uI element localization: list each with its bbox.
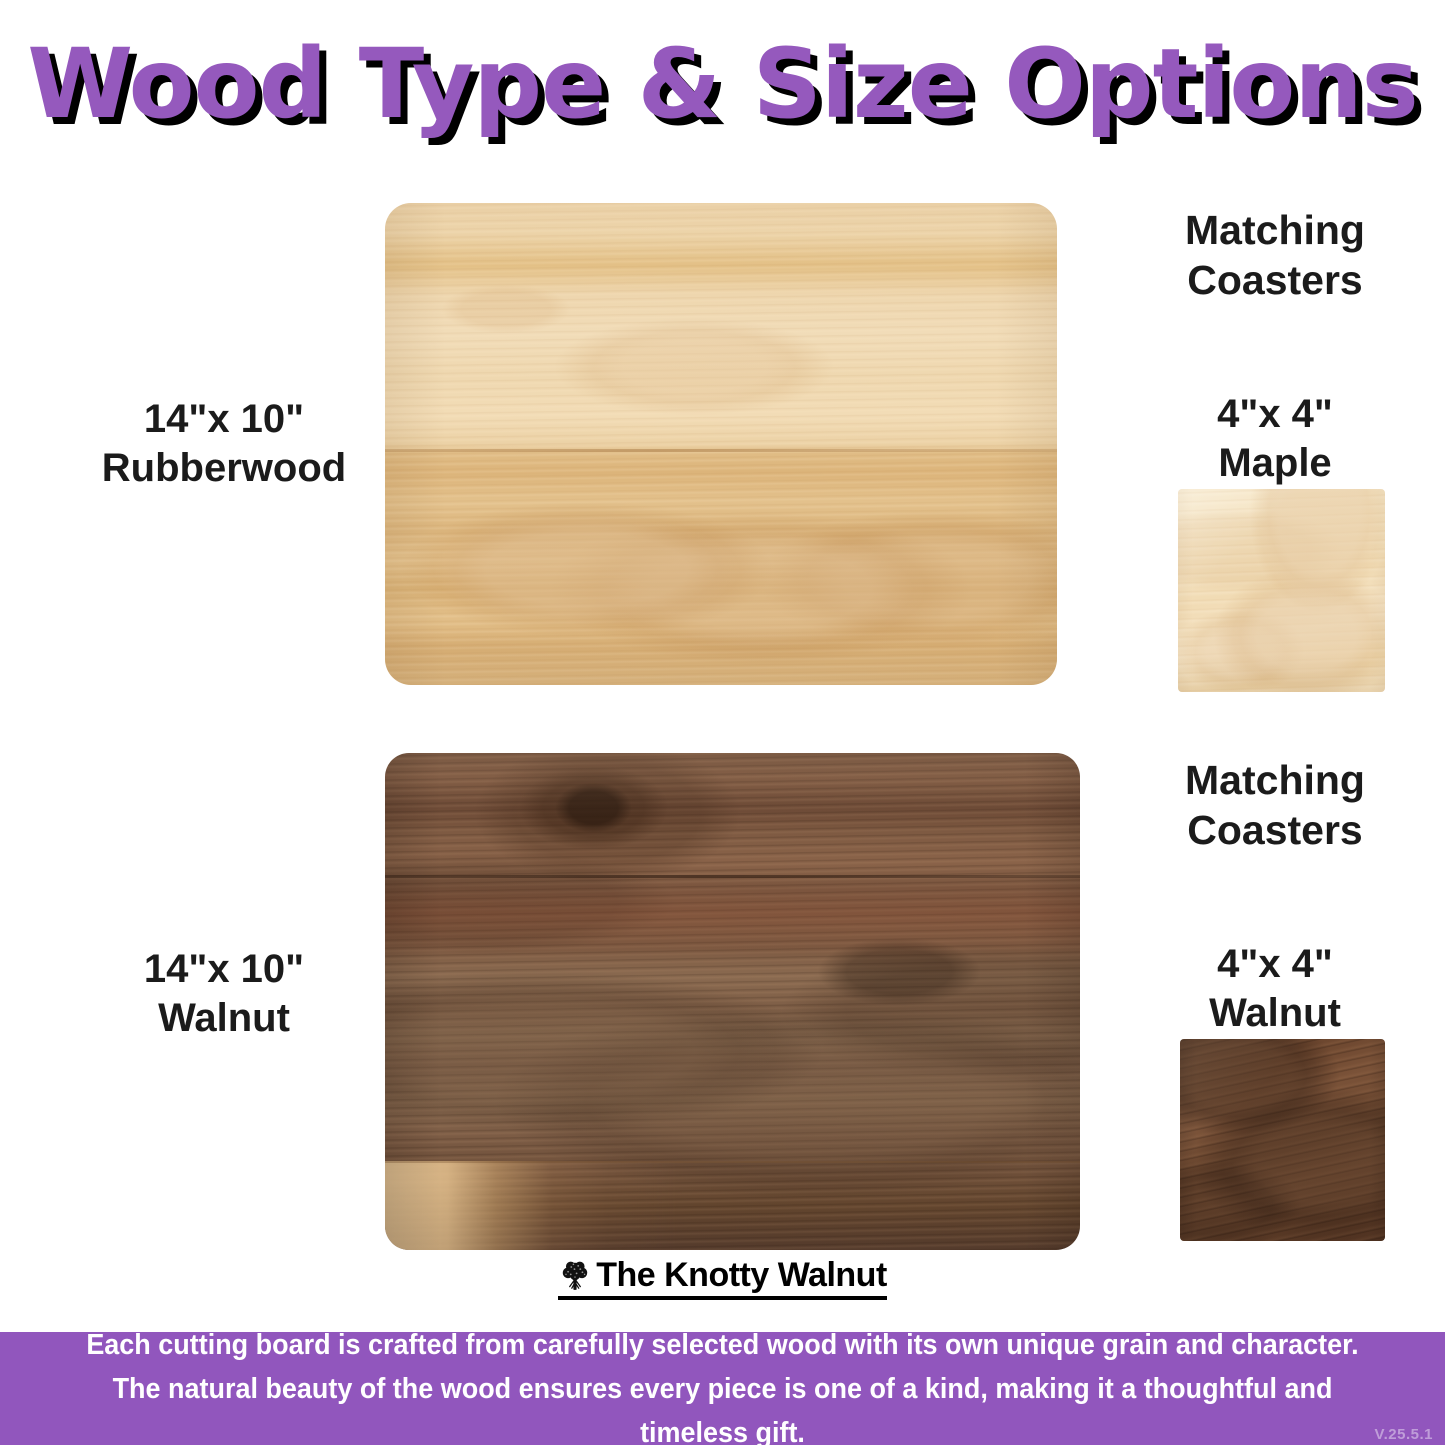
matching-coasters-heading-1: Matching Coasters [1110, 205, 1440, 305]
matching-coasters-line1-row2: Matching [1110, 755, 1440, 805]
bottom-banner: Each cutting board is crafted from caref… [0, 1332, 1445, 1445]
walnut-edge-shading [385, 753, 1080, 1250]
tree-icon [558, 1259, 592, 1293]
walnut-board-wood: Walnut [14, 994, 434, 1043]
maple-coaster-image[interactable] [1178, 489, 1385, 692]
walnut-coaster-label: 4"x 4" Walnut [1110, 940, 1440, 1038]
banner-description: Each cutting board is crafted from caref… [64, 1323, 1382, 1445]
rubberwood-board-wood: Rubberwood [14, 444, 434, 493]
walnut-coaster-size: 4"x 4" [1110, 940, 1440, 989]
maple-coaster-size: 4"x 4" [1110, 390, 1440, 439]
brand-lockup[interactable]: The Knotty Walnut [558, 1256, 887, 1300]
walnut-coaster-edge-shading [1180, 1039, 1385, 1241]
rubberwood-board-size: 14"x 10" [14, 395, 434, 444]
rubberwood-board-label: 14"x 10" Rubberwood [14, 395, 434, 493]
walnut-board-label: 14"x 10" Walnut [14, 945, 434, 1043]
brand-name: The Knotty Walnut [596, 1256, 887, 1295]
walnut-coaster-image[interactable] [1180, 1039, 1385, 1241]
maple-edge-shading [1178, 489, 1385, 692]
page-title: Wood Type & Size Options [0, 32, 1445, 136]
maple-coaster-wood: Maple [1110, 439, 1440, 488]
walnut-coaster-wood: Walnut [1110, 989, 1440, 1038]
brand: The Knotty Walnut [0, 1256, 1445, 1300]
rubberwood-board-image[interactable] [385, 203, 1057, 685]
matching-coasters-heading-2: Matching Coasters [1110, 755, 1440, 855]
maple-coaster-label: 4"x 4" Maple [1110, 390, 1440, 488]
rubberwood-edge-shading [385, 203, 1057, 685]
version-watermark: V.25.5.1 [1375, 1426, 1434, 1443]
walnut-board-image[interactable] [385, 753, 1080, 1250]
infographic-page: Wood Type & Size Options 14"x 10" Rubber… [0, 0, 1445, 1445]
matching-coasters-line1-row1: Matching [1110, 205, 1440, 255]
walnut-board-size: 14"x 10" [14, 945, 434, 994]
matching-coasters-line2-row2: Coasters [1110, 805, 1440, 855]
matching-coasters-line2-row1: Coasters [1110, 255, 1440, 305]
